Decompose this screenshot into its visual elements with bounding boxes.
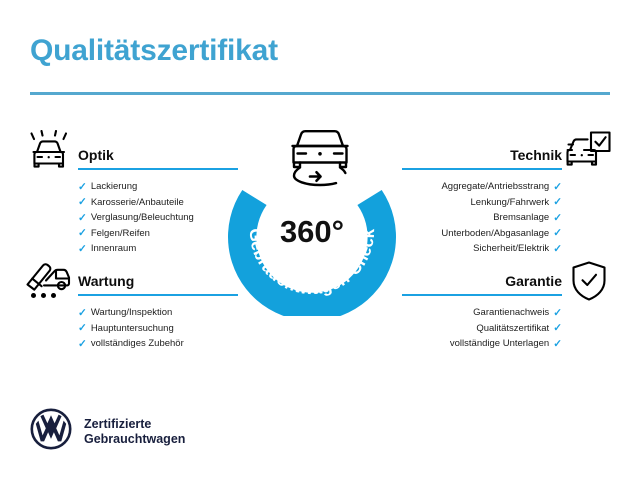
section-heading-garantie: Garantie [402, 272, 562, 290]
footer-line-1: Zertifizierte [84, 417, 151, 431]
list-item-label: Innenraum [91, 241, 136, 257]
check-icon: ✓ [78, 197, 87, 208]
list-item: Aggregate/Antriebsstrang✓ [402, 179, 562, 195]
list-item-label: vollständiges Zubehör [91, 336, 184, 352]
title-divider [30, 92, 610, 95]
list-item-label: Aggregate/Antriebsstrang [441, 179, 549, 195]
list-item-label: Unterboden/Abgasanlage [441, 226, 549, 242]
check-icon: ✓ [553, 339, 562, 350]
section-divider-garantie [402, 294, 562, 296]
page-title: Qualitätszertifikat [30, 34, 278, 68]
section-list-optik: ✓Lackierung ✓Karosserie/Anbauteile ✓Verg… [78, 179, 238, 257]
list-item-label: Felgen/Reifen [91, 226, 150, 242]
list-item-label: Lackierung [91, 179, 137, 195]
section-divider-optik [78, 168, 238, 170]
check-icon: ✓ [78, 228, 87, 239]
check-icon: ✓ [553, 244, 562, 255]
list-item-label: Karosserie/Anbauteile [91, 195, 184, 211]
check-icon: ✓ [553, 323, 562, 334]
list-item: ✓vollständiges Zubehör [78, 336, 238, 352]
check-icon: ✓ [78, 213, 87, 224]
shield-check-icon [570, 260, 608, 307]
section-wartung: Wartung ✓Wartung/Inspektion ✓Hauptunters… [78, 272, 238, 352]
section-heading-wartung: Wartung [78, 272, 238, 290]
list-item: Lenkung/Fahrwerk✓ [402, 195, 562, 211]
list-item-label: Wartung/Inspektion [91, 305, 173, 321]
check-icon: ✓ [78, 182, 87, 193]
list-item-label: Verglasung/Beleuchtung [91, 210, 194, 226]
vw-logo [30, 408, 72, 455]
list-item-label: Lenkung/Fahrwerk [471, 195, 550, 211]
check-icon: ✓ [78, 308, 87, 319]
list-item: Garantienachweis✓ [402, 305, 562, 321]
car-lift-icon [24, 261, 72, 306]
check-icon: ✓ [553, 228, 562, 239]
section-technik: Technik Aggregate/Antriebsstrang✓ Lenkun… [402, 146, 562, 257]
list-item: ✓Verglasung/Beleuchtung [78, 210, 238, 226]
list-item-label: Garantienachweis [473, 305, 549, 321]
list-item-label: Qualitätszertifikat [476, 321, 549, 337]
car-shine-icon [26, 130, 72, 179]
check-icon: ✓ [78, 323, 87, 334]
certificate-page: Qualitätszertifikat Optik ✓Lackierung ✓K… [0, 0, 640, 480]
list-item: ✓Innenraum [78, 241, 238, 257]
footer-brand: Zertifizierte Gebrauchtwagen [30, 408, 185, 455]
check-icon: ✓ [553, 182, 562, 193]
section-divider-technik [402, 168, 562, 170]
check-icon: ✓ [553, 213, 562, 224]
car-front-rotate-icon [274, 122, 366, 195]
list-item: ✓Felgen/Reifen [78, 226, 238, 242]
list-item: ✓Wartung/Inspektion [78, 305, 238, 321]
section-heading-technik: Technik [402, 146, 562, 164]
list-item-label: Sicherheit/Elektrik [473, 241, 549, 257]
section-list-wartung: ✓Wartung/Inspektion ✓Hauptuntersuchung ✓… [78, 305, 238, 352]
list-item-label: Hauptuntersuchung [91, 321, 174, 337]
list-item: vollständige Unterlagen✓ [402, 336, 562, 352]
car-checkbox-icon [566, 130, 612, 179]
section-list-garantie: Garantienachweis✓ Qualitätszertifikat✓ v… [402, 305, 562, 352]
section-garantie: Garantie Garantienachweis✓ Qualitätszert… [402, 272, 562, 352]
list-item: Qualitätszertifikat✓ [402, 321, 562, 337]
footer-text: Zertifizierte Gebrauchtwagen [84, 417, 185, 447]
check-icon: ✓ [78, 244, 87, 255]
list-item: Sicherheit/Elektrik✓ [402, 241, 562, 257]
list-item: Unterboden/Abgasanlage✓ [402, 226, 562, 242]
list-item-label: vollständige Unterlagen [450, 336, 549, 352]
check-icon: ✓ [553, 197, 562, 208]
section-heading-optik: Optik [78, 146, 238, 164]
footer-line-2: Gebrauchtwagen [84, 432, 185, 446]
list-item: Bremsanlage✓ [402, 210, 562, 226]
list-item-label: Bremsanlage [493, 210, 549, 226]
section-optik: Optik ✓Lackierung ✓Karosserie/Anbauteile… [78, 146, 238, 257]
list-item: ✓Hauptuntersuchung [78, 321, 238, 337]
list-item: ✓Lackierung [78, 179, 238, 195]
check-icon: ✓ [553, 308, 562, 319]
section-divider-wartung [78, 294, 238, 296]
check-icon: ✓ [78, 339, 87, 350]
section-list-technik: Aggregate/Antriebsstrang✓ Lenkung/Fahrwe… [402, 179, 562, 257]
list-item: ✓Karosserie/Anbauteile [78, 195, 238, 211]
